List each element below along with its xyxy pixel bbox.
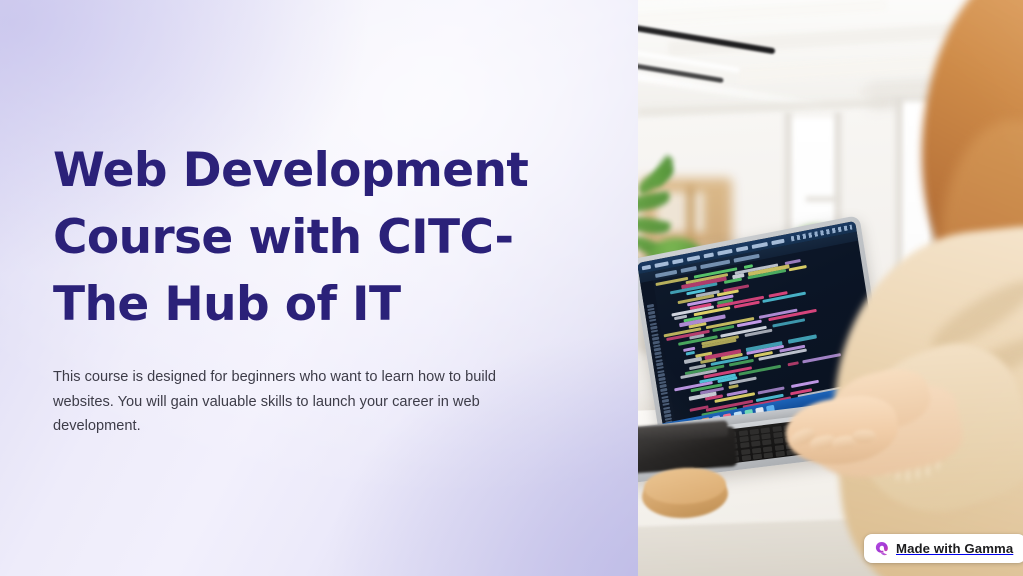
keyboard-key — [772, 426, 782, 432]
keyboard-key — [761, 427, 771, 433]
photo-person — [823, 0, 1023, 576]
editor-code-token — [787, 361, 798, 366]
keyboard-key — [775, 451, 785, 457]
keyboard-key — [762, 434, 772, 440]
keyboard-key — [751, 441, 761, 447]
editor-code-token — [728, 384, 738, 389]
keyboard-key — [741, 455, 751, 461]
title-line-1: Web Development — [53, 137, 523, 204]
editor-code-token — [686, 351, 695, 356]
photo-plant-leaf — [638, 191, 671, 213]
gamma-logo-icon — [874, 541, 889, 556]
editor-code-token — [791, 380, 819, 388]
keyboard-key — [741, 449, 751, 455]
keyboard-key — [750, 429, 760, 435]
editor-line-gutter — [640, 281, 681, 440]
photo-plant-leaf — [638, 214, 671, 238]
title-line-3: The Hub of IT — [53, 271, 523, 338]
keyboard-key — [739, 436, 749, 442]
keyboard-key — [763, 446, 773, 452]
editor-code-token — [772, 318, 805, 327]
slide-root: Web Development Course with CITC- The Hu… — [0, 0, 1023, 576]
keyboard-key — [773, 432, 783, 438]
keyboard-key — [753, 453, 763, 459]
page-title: Web Development Course with CITC- The Hu… — [53, 137, 523, 338]
office-photo — [638, 0, 1023, 576]
keyboard-key — [774, 438, 784, 444]
keyboard-key — [774, 444, 784, 450]
gamma-badge-label: Made with Gamma — [896, 541, 1013, 556]
keyboard-key — [762, 440, 772, 446]
keyboard-key — [738, 430, 748, 436]
photo-finger — [852, 430, 876, 444]
made-with-gamma-badge[interactable]: Made with Gamma — [864, 534, 1023, 563]
body-paragraph: This course is designed for beginners wh… — [53, 365, 525, 439]
keyboard-key — [750, 435, 760, 441]
title-line-2: Course with CITC- — [53, 204, 523, 271]
keyboard-key — [740, 442, 750, 448]
keyboard-key — [752, 447, 762, 453]
keyboard-key — [764, 452, 774, 458]
editor-code-token — [789, 265, 807, 272]
text-content: Web Development Course with CITC- The Hu… — [53, 0, 553, 576]
editor-code-token — [788, 335, 817, 344]
hero-photo-panel — [638, 0, 1023, 576]
text-panel: Web Development Course with CITC- The Hu… — [0, 0, 638, 576]
